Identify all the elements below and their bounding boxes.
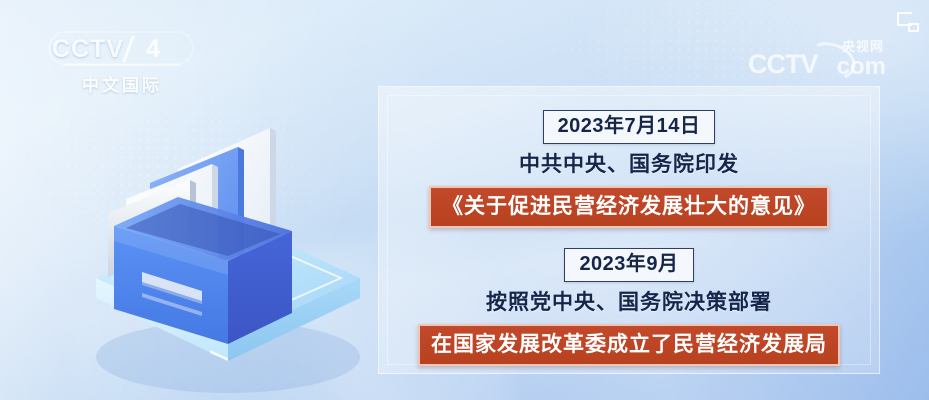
frame-corner-icon bbox=[897, 12, 919, 32]
frame-corner-inner bbox=[908, 23, 919, 32]
content-block-2: 2023年9月 按照党中央、国务院决策部署 在国家发展改革委成立了民营经济发展局 bbox=[378, 248, 880, 366]
content-block-1: 2023年7月14日 中共中央、国务院印发 《关于促进民营经济发展壮大的意见》 bbox=[378, 110, 880, 228]
highlight-banner-1: 《关于促进民营经济发展壮大的意见》 bbox=[429, 186, 829, 228]
cctv4-logo-row: CCTV 4 bbox=[52, 36, 192, 62]
subtitle-line-1: 中共中央、国务院印发 bbox=[378, 152, 880, 177]
document-filing-box-3d-icon bbox=[60, 95, 390, 395]
cctv4-channel-logo: CCTV 4 中文国际 bbox=[52, 36, 192, 96]
cctv4-subtitle: 中文国际 bbox=[52, 71, 192, 96]
cctv4-logo-pill bbox=[48, 31, 194, 65]
cctv-com-watermark: CCTV 央视网 com bbox=[748, 41, 884, 81]
cctv-com-suffix: com bbox=[837, 55, 886, 79]
broadcast-graphic-stage: CCTV 4 中文国际 CCTV 央视网 com bbox=[0, 0, 929, 400]
date-chip-2: 2023年9月 bbox=[564, 248, 693, 282]
highlight-banner-2: 在国家发展改革委成立了民营经济发展局 bbox=[418, 324, 840, 366]
date-chip-1: 2023年7月14日 bbox=[543, 110, 716, 144]
subtitle-line-2: 按照党中央、国务院决策部署 bbox=[378, 290, 880, 315]
cctv-com-chinese-label: 央视网 bbox=[842, 40, 884, 53]
